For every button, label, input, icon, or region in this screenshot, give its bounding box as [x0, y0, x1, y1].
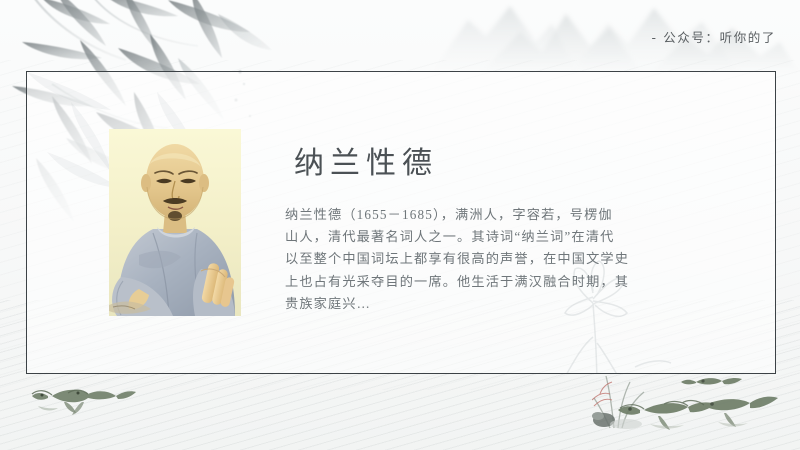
- biography-line: 山人，清代最著名词人之一。其诗词“纳兰词”在清代: [285, 226, 715, 248]
- biography-line: 以至整个中国词坛上都享有很高的声誉，在中国文学史: [285, 248, 715, 270]
- biography-line: 上也占有光采夺目的一席。他生活于满汉融合时期，其: [285, 271, 715, 293]
- portrait-image: [109, 129, 241, 316]
- fish-ink-sketch-left: [22, 378, 152, 424]
- slide-canvas: - 公众号：听你的了: [0, 0, 800, 450]
- biography-line: 纳兰性德（1655－1685），满洲人，字容若，号楞伽: [285, 204, 715, 226]
- biography-line: 贵族家庭兴…: [285, 293, 715, 315]
- content-frame: 纳兰性德 纳兰性德（1655－1685），满洲人，字容若，号楞伽 山人，清代最著…: [26, 71, 776, 374]
- biography-text: 纳兰性德（1655－1685），满洲人，字容若，号楞伽 山人，清代最著名词人之一…: [285, 204, 715, 315]
- fish-ink-sketch-right: [600, 372, 780, 434]
- page-title: 纳兰性德: [294, 138, 438, 182]
- header-account-note: - 公众号：听你的了: [652, 27, 776, 46]
